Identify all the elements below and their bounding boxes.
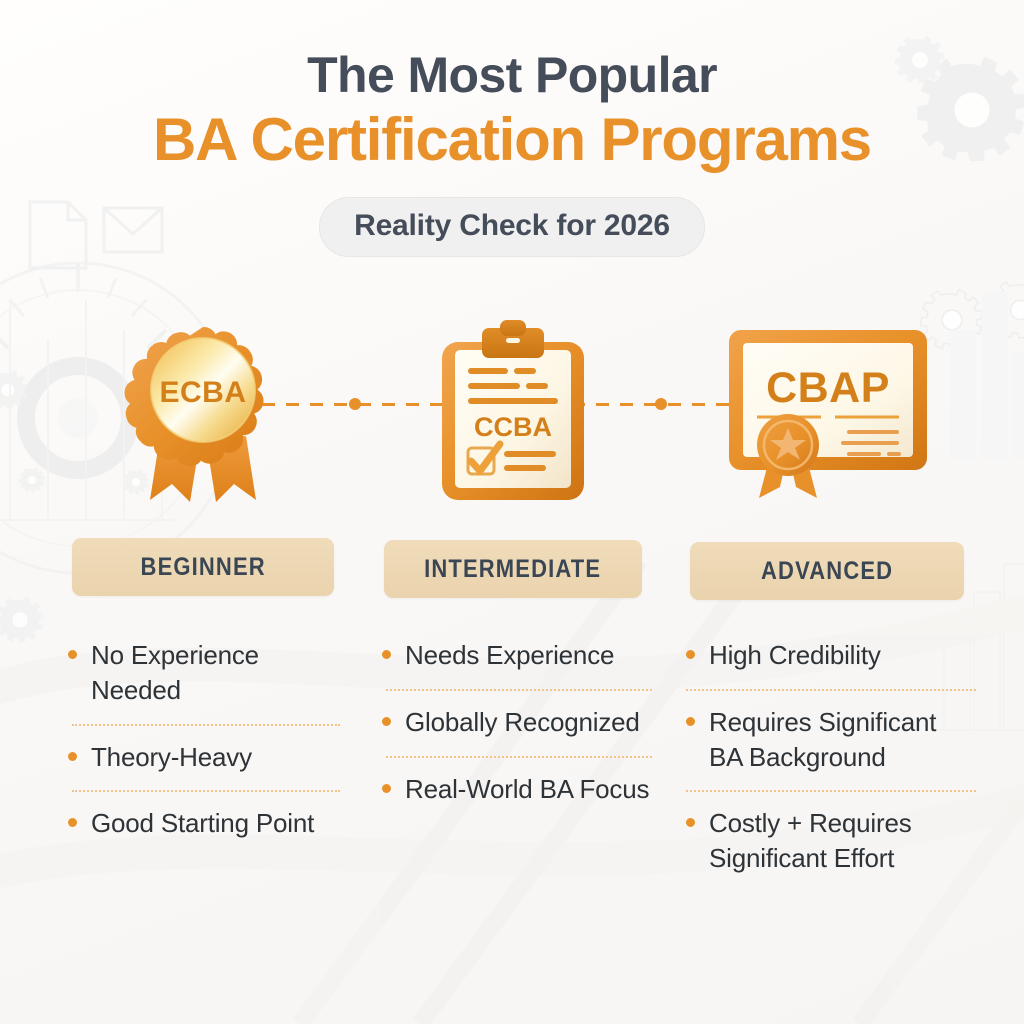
list-item: Real-World BA Focus [382, 762, 652, 819]
list-divider [686, 790, 976, 792]
ccba-code-label: CCBA [474, 412, 552, 442]
ccba-icon-cell: CCBA [372, 318, 654, 508]
bullet-dot-icon [68, 650, 77, 659]
bullet-dot-icon [382, 717, 391, 726]
list-item-label: Costly + Requires Significant Effort [709, 806, 976, 876]
list-item-label: Requires Significant BA Background [709, 705, 976, 775]
bullet-dot-icon [68, 818, 77, 827]
list-item-label: Real-World BA Focus [405, 772, 649, 807]
level-badge-label: ADVANCED [761, 557, 893, 586]
list-item-label: Globally Recognized [405, 705, 640, 740]
cbap-code-label: CBAP [766, 364, 890, 412]
certificate-detail-lines [841, 430, 901, 456]
subtitle-pill: Reality Check for 2026 [319, 197, 705, 257]
ecba-icon-cell: ECBA [62, 318, 344, 508]
list-divider [386, 689, 652, 691]
level-badge-label: INTERMEDIATE [424, 555, 601, 584]
list-item: Globally Recognized [382, 695, 652, 752]
bullet-dot-icon [382, 784, 391, 793]
bullet-dot-icon [686, 717, 695, 726]
column-cbap: High Credibility Requires Significant BA… [686, 628, 976, 888]
list-divider [386, 756, 652, 758]
list-divider [686, 689, 976, 691]
list-item: Needs Experience [382, 628, 652, 685]
bullet-dot-icon [382, 650, 391, 659]
level-badge-advanced: ADVANCED [690, 542, 964, 600]
list-divider [72, 724, 340, 726]
clipboard-clip [482, 320, 544, 358]
level-badge-intermediate: INTERMEDIATE [384, 540, 642, 598]
header: The Most Popular BA Certification Progra… [0, 0, 1024, 257]
list-item: Theory-Heavy [68, 730, 340, 787]
bullet-dot-icon [686, 818, 695, 827]
list-item-label: No Experience Needed [91, 638, 340, 708]
column-ecba: No Experience Needed Theory-Heavy Good S… [68, 628, 340, 853]
list-item-label: Theory-Heavy [91, 740, 252, 775]
column-ccba: Needs Experience Globally Recognized Rea… [382, 628, 652, 818]
list-item: Costly + Requires Significant Effort [686, 796, 976, 888]
certification-icon-row: ECBA [0, 318, 1024, 508]
cbap-icon-cell: CBAP [682, 318, 974, 508]
level-badge-beginner: BEGINNER [72, 538, 334, 596]
bullet-dot-icon [68, 752, 77, 761]
certificate-seal [757, 414, 819, 498]
list-item: High Credibility [686, 628, 976, 685]
list-item: Requires Significant BA Background [686, 695, 976, 787]
level-badge-label: BEGINNER [140, 553, 265, 582]
certificate-seal-icon: CBAP [723, 320, 933, 506]
list-item: No Experience Needed [68, 628, 340, 720]
list-item-label: Good Starting Point [91, 806, 314, 841]
list-item-label: High Credibility [709, 638, 881, 673]
page-title-line-1: The Most Popular [0, 48, 1024, 102]
clipboard-checklist-icon: CCBA [428, 320, 598, 506]
list-divider [72, 790, 340, 792]
page-title-line-2: BA Certification Programs [0, 106, 1024, 173]
certification-detail-columns: No Experience Needed Theory-Heavy Good S… [0, 628, 1024, 998]
ecba-code-label: ECBA [159, 376, 246, 409]
rosette-badge-icon: ECBA [108, 318, 298, 508]
bullet-dot-icon [686, 650, 695, 659]
list-item-label: Needs Experience [405, 638, 614, 673]
list-item: Good Starting Point [68, 796, 340, 853]
